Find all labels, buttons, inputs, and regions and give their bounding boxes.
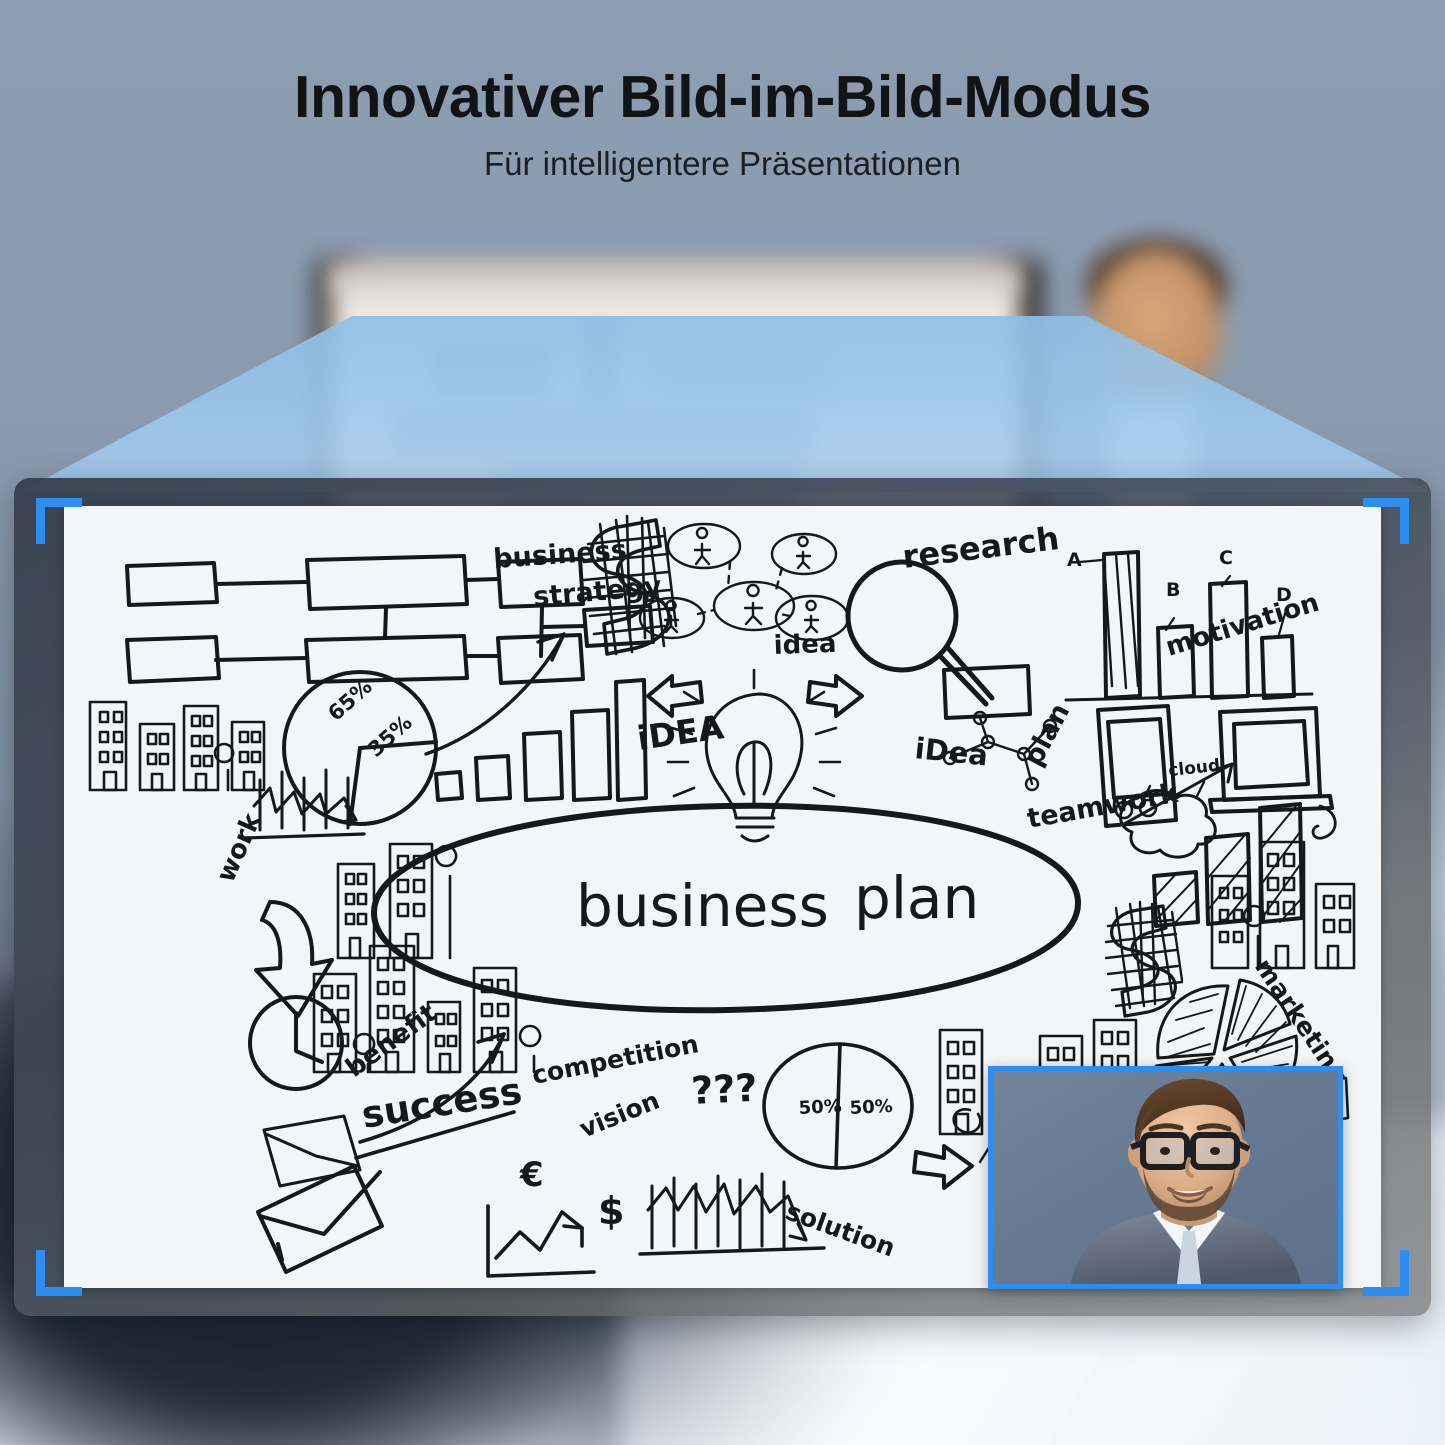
whiteboard-label: ???: [690, 1066, 758, 1113]
whiteboard-label: work: [211, 808, 268, 887]
whiteboard-label: €: [519, 1155, 544, 1195]
poster-root: Innovativer Bild-im-Bild-Modus Für intel…: [0, 0, 1445, 1445]
dollar-sign-hatched-right: [1106, 902, 1182, 1016]
flipchart-sketch-blob-4: [392, 410, 812, 456]
whiteboard-label: idea: [773, 629, 837, 661]
flowchart-boxes: [127, 556, 653, 683]
whiteboard-label: 50%: [798, 1096, 842, 1119]
envelope-icon-1: [264, 1116, 360, 1186]
city-skyline-left: [90, 702, 264, 790]
whiteboard-label: success: [359, 1069, 525, 1137]
corner-marker-bottom-right: [1363, 1250, 1409, 1296]
whiteboard-center-label: business: [576, 872, 829, 940]
whiteboard-label: B: [1166, 579, 1180, 601]
picture-in-picture-window[interactable]: [988, 1066, 1343, 1289]
pip-presenter-portrait: [993, 1071, 1338, 1284]
whiteboard-label: vision: [575, 1085, 663, 1143]
whiteboard-center-label: plan: [854, 864, 979, 932]
lightbulb-icon: [668, 670, 840, 841]
flipchart-sketch-blob-1: [430, 340, 550, 400]
envelope-icon-2: [258, 1166, 382, 1272]
flipchart-sketch-blob-3: [650, 344, 830, 398]
magnifier-icon: [848, 562, 992, 704]
whiteboard-label: competition: [530, 1029, 701, 1090]
whiteboard-label: 50%: [849, 1096, 893, 1119]
whiteboard-label: solution: [782, 1196, 899, 1262]
corner-marker-bottom-left: [36, 1250, 82, 1296]
whiteboard-label: business: [492, 535, 627, 575]
whiteboard-label: C: [1219, 547, 1233, 569]
city-skyline-mid-left: [338, 844, 456, 958]
corner-marker-top-right: [1363, 498, 1409, 544]
whiteboard-label: research: [900, 519, 1061, 576]
corner-marker-top-left: [36, 498, 82, 544]
whiteboard-label: A: [1067, 549, 1082, 571]
whiteboard-label: cloud: [1167, 756, 1221, 781]
whiteboard-label: iDEA: [635, 707, 727, 758]
bar-chart-growth: [426, 634, 646, 800]
city-skyline-right: [1212, 842, 1354, 968]
whiteboard-label: D: [1276, 584, 1292, 606]
flipchart-sketch-blob-2: [580, 326, 620, 406]
whiteboard-label: iDea: [913, 731, 989, 772]
headline-block: Innovativer Bild-im-Bild-Modus Für intel…: [0, 66, 1445, 183]
page-title: Innovativer Bild-im-Bild-Modus: [0, 66, 1445, 129]
right-arrow-outline-lower: [914, 1146, 972, 1188]
whiteboard-label: plan: [1018, 698, 1076, 771]
page-subtitle: Für intelligentere Präsentationen: [0, 145, 1445, 183]
whiteboard-label: 35%: [363, 710, 416, 761]
whiteboard-label: $: [598, 1189, 624, 1233]
line-chart-up: [488, 1206, 594, 1276]
